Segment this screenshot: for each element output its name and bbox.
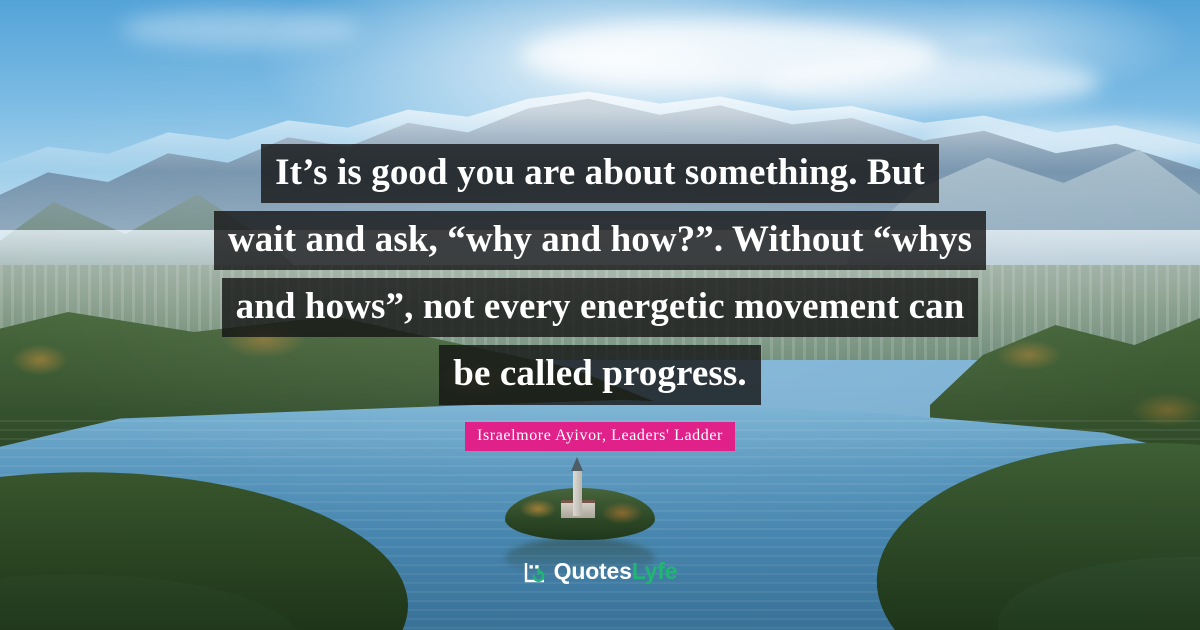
quote-block: It’s is good you are about something. Bu… (0, 140, 1200, 409)
quote-line-1: It’s is good you are about something. Bu… (261, 144, 939, 203)
attribution-wrap: Israelmore Ayivor, Leaders' Ladder (0, 422, 1200, 451)
attribution-badge: Israelmore Ayivor, Leaders' Ladder (465, 422, 735, 451)
quote-bracket-icon (523, 560, 547, 584)
quote-image-canvas: It’s is good you are about something. Bu… (0, 0, 1200, 630)
quote-line-3: and hows”, not every energetic movement … (222, 278, 979, 337)
brand-logo[interactable]: QuotesLyfe (0, 558, 1200, 585)
quote-line-4: be called progress. (439, 345, 760, 404)
brand-name-part2: Lyfe (632, 558, 678, 584)
brand-name-part1: Quotes (554, 558, 632, 584)
quote-line-2: wait and ask, “why and how?”. Without “w… (214, 211, 986, 270)
brand-name: QuotesLyfe (554, 558, 678, 585)
